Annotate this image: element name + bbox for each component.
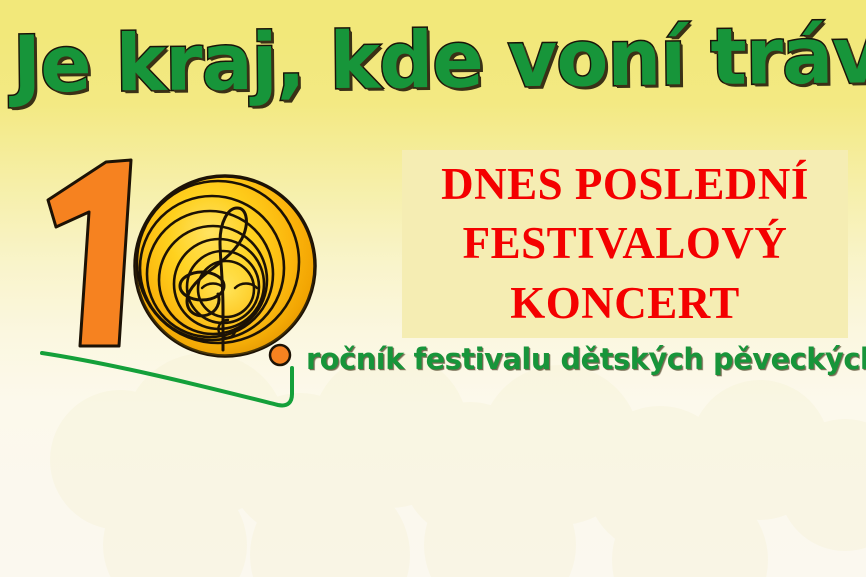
poster-canvas: Je kraj, kde voní tráva xyxy=(0,0,866,577)
accent-dot xyxy=(270,345,290,365)
logo-numeral-one xyxy=(48,160,131,346)
accent-curve xyxy=(42,353,292,405)
page-title: Je kraj, kde voní tráva xyxy=(13,17,854,104)
subtitle: ročník festivalu dětských pěveckých sbor… xyxy=(306,345,860,374)
announcement-line-3: KONCERT xyxy=(510,275,739,333)
announcement-text-block: DNES POSLEDNÍ FESTIVALOVÝ KONCERT xyxy=(402,150,848,338)
announcement-line-1: DNES POSLEDNÍ xyxy=(441,156,809,214)
announcement-line-2: FESTIVALOVÝ xyxy=(463,215,788,273)
